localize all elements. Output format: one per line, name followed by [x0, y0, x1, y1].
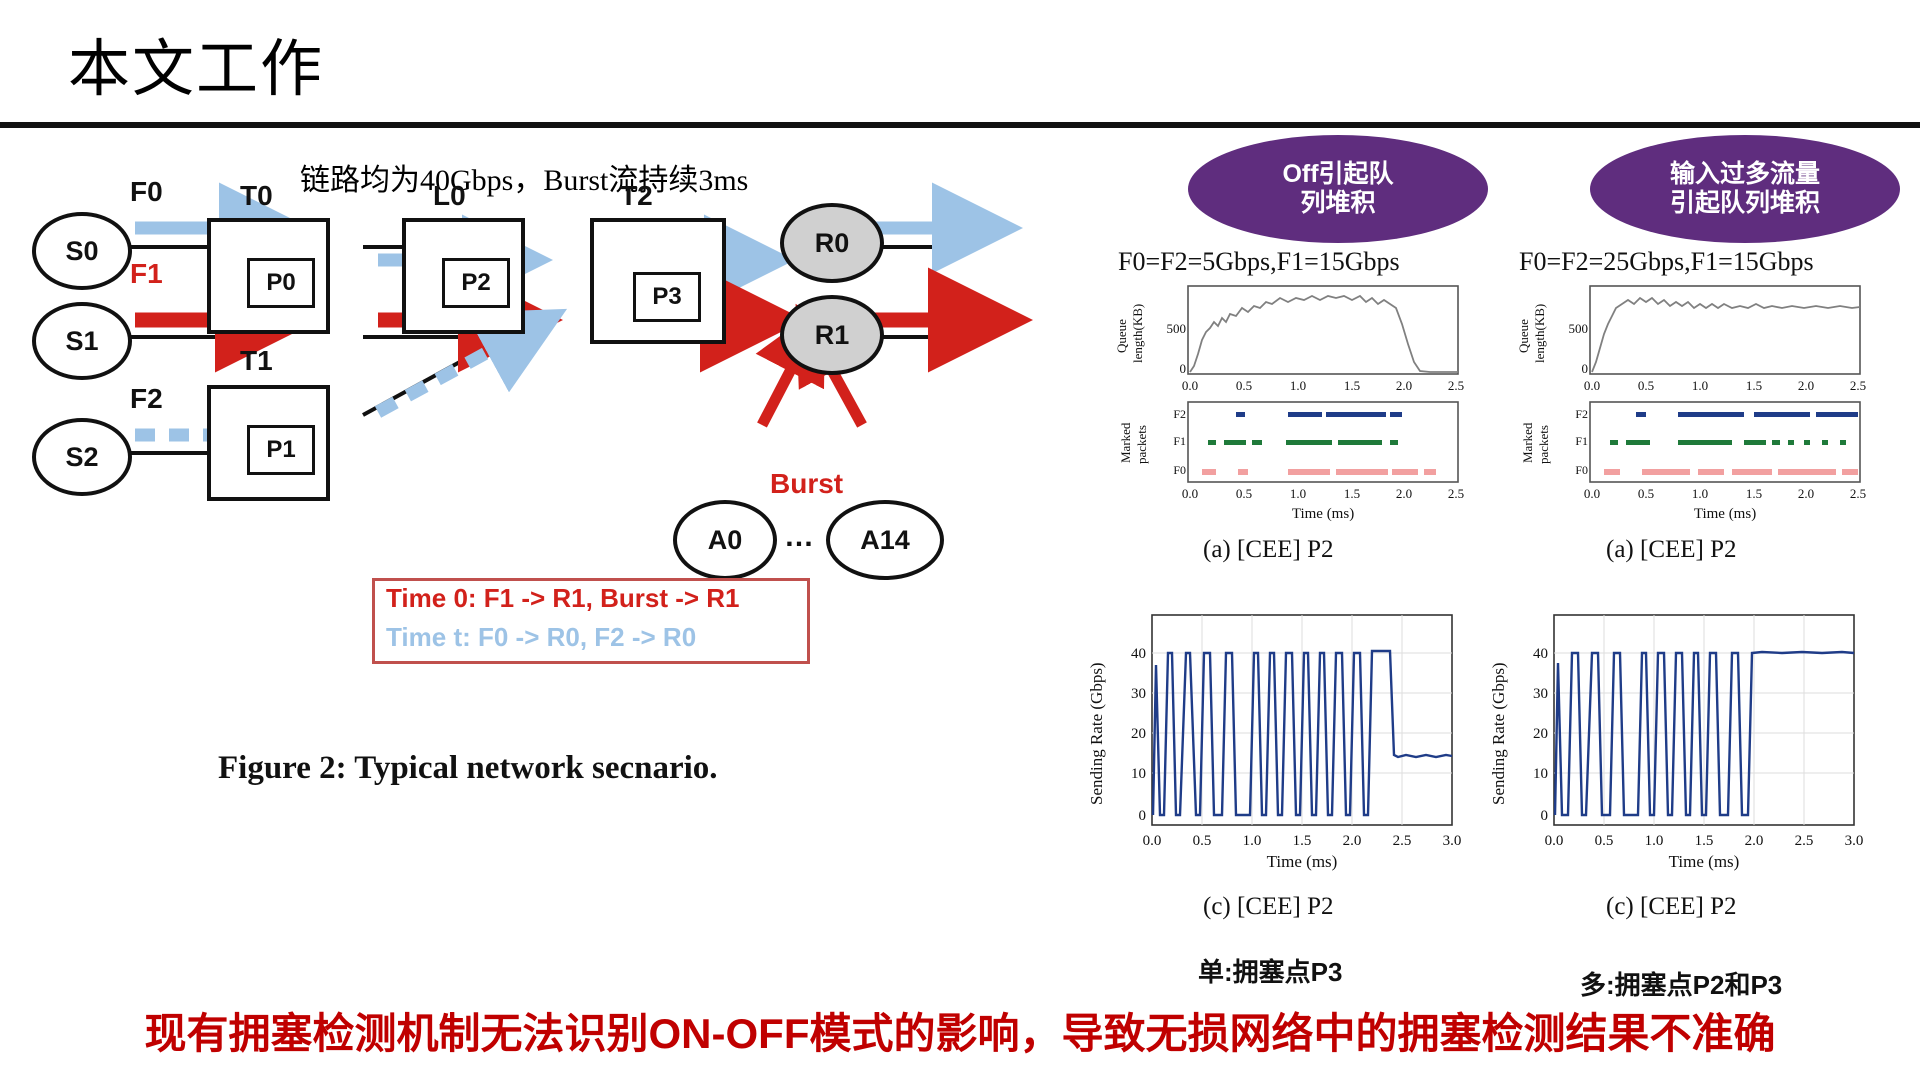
chart-queue-marked-col1: 500 0 0.0 0.5 1.0 1.5 2.0 2.5 Queue leng…: [1090, 278, 1490, 538]
callout-bubble-1: Off引起队 列堆积: [1188, 135, 1488, 243]
svg-text:500: 500: [1167, 321, 1187, 336]
svg-text:0: 0: [1180, 361, 1187, 376]
svg-text:3.0: 3.0: [1443, 833, 1462, 849]
svg-text:0.0: 0.0: [1182, 378, 1198, 393]
switch-l0-label: L0: [433, 180, 466, 212]
svg-text:1.5: 1.5: [1746, 486, 1762, 501]
svg-text:Marked: Marked: [1520, 422, 1535, 463]
callout-bubble-1-line1: Off引起队: [1282, 160, 1393, 190]
svg-text:F1: F1: [1173, 434, 1186, 448]
rate-caption-col2: F0=F2=25Gbps,F1=15Gbps: [1519, 247, 1814, 277]
svg-text:2.5: 2.5: [1795, 833, 1814, 849]
svg-text:0.5: 0.5: [1638, 378, 1654, 393]
scenario-legend-line1: Time 0: F1 -> R1, Burst -> R1: [386, 583, 740, 614]
svg-text:packets: packets: [1536, 425, 1551, 464]
port-p3: P3: [633, 272, 701, 322]
svg-text:0.5: 0.5: [1236, 486, 1252, 501]
svg-text:2.0: 2.0: [1798, 486, 1814, 501]
burst-label: Burst: [770, 468, 843, 500]
svg-text:10: 10: [1533, 766, 1548, 782]
svg-text:Queue: Queue: [1114, 319, 1129, 353]
svg-text:0: 0: [1582, 361, 1589, 376]
svg-text:0.0: 0.0: [1584, 378, 1600, 393]
svg-text:1.0: 1.0: [1243, 833, 1262, 849]
port-p1: P1: [247, 425, 315, 475]
svg-text:Queue: Queue: [1516, 319, 1531, 353]
switch-t2-label: T2: [620, 180, 653, 212]
node-s0: S0: [32, 212, 132, 290]
page-title: 本文工作: [68, 18, 324, 108]
svg-text:Time (ms): Time (ms): [1694, 506, 1756, 522]
burst-ellipsis: …: [784, 520, 816, 554]
bottom-note-col1: 单:拥塞点P3: [1198, 952, 1342, 989]
header-divider: [0, 122, 1920, 128]
svg-text:2.5: 2.5: [1448, 486, 1464, 501]
panel-a-caption-col2: (a) [CEE] P2: [1606, 536, 1737, 564]
callout-bubble-1-line2: 列堆积: [1282, 189, 1393, 219]
panel-c-caption-col1: (c) [CEE] P2: [1203, 893, 1334, 921]
switch-t0-label: T0: [240, 180, 273, 212]
svg-text:2.0: 2.0: [1343, 833, 1362, 849]
svg-text:0.0: 0.0: [1182, 486, 1198, 501]
svg-text:2.0: 2.0: [1396, 378, 1412, 393]
port-p0: P0: [247, 258, 315, 308]
svg-text:0.5: 0.5: [1638, 486, 1654, 501]
svg-text:2.5: 2.5: [1850, 378, 1866, 393]
svg-text:0.5: 0.5: [1193, 833, 1212, 849]
flow-label-f0: F0: [130, 176, 163, 208]
svg-text:500: 500: [1569, 321, 1589, 336]
svg-text:2.0: 2.0: [1745, 833, 1764, 849]
svg-text:2.5: 2.5: [1448, 378, 1464, 393]
flow-label-f2: F2: [130, 383, 163, 415]
svg-text:2.5: 2.5: [1393, 833, 1412, 849]
panel-c-caption-col2: (c) [CEE] P2: [1606, 893, 1737, 921]
svg-text:20: 20: [1533, 726, 1548, 742]
svg-text:length(KB): length(KB): [1130, 304, 1145, 363]
svg-text:2.0: 2.0: [1396, 486, 1412, 501]
chart-sending-rate-col2: 0 10 20 30 40 0.0 0.5 1.0 1.5 2.0 2.5 3.…: [1462, 605, 1892, 895]
panel-a-caption-col1: (a) [CEE] P2: [1203, 536, 1334, 564]
scenario-legend-line2: Time t: F0 -> R0, F2 -> R0: [386, 622, 696, 653]
node-s2: S2: [32, 418, 132, 496]
svg-text:40: 40: [1533, 646, 1548, 662]
svg-text:0.5: 0.5: [1595, 833, 1614, 849]
svg-text:2.0: 2.0: [1798, 378, 1814, 393]
svg-text:packets: packets: [1134, 425, 1149, 464]
rate-caption-col1: F0=F2=5Gbps,F1=15Gbps: [1118, 247, 1400, 277]
svg-text:2.5: 2.5: [1850, 486, 1866, 501]
switch-t1-label: T1: [240, 345, 273, 377]
svg-text:Sending Rate (Gbps): Sending Rate (Gbps): [1087, 662, 1106, 805]
svg-text:1.5: 1.5: [1293, 833, 1312, 849]
svg-text:40: 40: [1131, 646, 1146, 662]
svg-text:1.0: 1.0: [1645, 833, 1664, 849]
svg-text:0.0: 0.0: [1584, 486, 1600, 501]
svg-text:length(KB): length(KB): [1532, 304, 1547, 363]
svg-text:1.0: 1.0: [1692, 378, 1708, 393]
node-r1: R1: [780, 295, 884, 375]
svg-text:Marked: Marked: [1118, 422, 1133, 463]
svg-text:F2: F2: [1173, 407, 1186, 421]
svg-text:1.5: 1.5: [1746, 378, 1762, 393]
svg-text:30: 30: [1131, 686, 1146, 702]
svg-text:1.5: 1.5: [1344, 486, 1360, 501]
chart-queue-marked-col2: 500 0 0.0 0.5 1.0 1.5 2.0 2.5 Queue leng…: [1492, 278, 1892, 538]
svg-text:3.0: 3.0: [1845, 833, 1864, 849]
node-a0: A0: [673, 500, 777, 580]
slide-root: 本文工作 链路均为40Gbps，Burst流持续3ms: [0, 0, 1920, 1080]
flow-label-f1: F1: [130, 258, 163, 290]
figure-caption: Figure 2: Typical network secnario.: [218, 750, 718, 787]
svg-text:0: 0: [1139, 808, 1147, 824]
callout-bubble-2: 输入过多流量 引起队列堆积: [1590, 135, 1900, 243]
svg-text:1.5: 1.5: [1344, 378, 1360, 393]
svg-text:Time (ms): Time (ms): [1267, 852, 1338, 871]
chart-sending-rate-col1: 0 10 20 30 40 0.0 0.5 1.0 1.5 2.0 2.5 3.…: [1060, 605, 1490, 895]
svg-text:10: 10: [1131, 766, 1146, 782]
svg-text:0.0: 0.0: [1545, 833, 1564, 849]
svg-text:30: 30: [1533, 686, 1548, 702]
port-p2: P2: [442, 258, 510, 308]
node-s1: S1: [32, 302, 132, 380]
svg-text:F0: F0: [1575, 463, 1588, 477]
bottom-banner: 现有拥塞检测机制无法识别ON-OFF模式的影响，导致无损网络中的拥塞检测结果不准…: [0, 1000, 1920, 1061]
svg-text:0.5: 0.5: [1236, 378, 1252, 393]
svg-text:Sending Rate (Gbps): Sending Rate (Gbps): [1489, 662, 1508, 805]
svg-text:F0: F0: [1173, 463, 1186, 477]
svg-text:20: 20: [1131, 726, 1146, 742]
svg-text:F1: F1: [1575, 434, 1588, 448]
svg-text:0: 0: [1541, 808, 1549, 824]
callout-bubble-2-line1: 输入过多流量: [1670, 160, 1820, 190]
callout-bubble-2-line2: 引起队列堆积: [1670, 189, 1820, 219]
node-r0: R0: [780, 203, 884, 283]
svg-text:0.0: 0.0: [1143, 833, 1162, 849]
svg-text:Time (ms): Time (ms): [1292, 506, 1354, 522]
svg-text:1.0: 1.0: [1290, 486, 1306, 501]
svg-text:1.0: 1.0: [1692, 486, 1708, 501]
svg-text:F2: F2: [1575, 407, 1588, 421]
svg-text:1.0: 1.0: [1290, 378, 1306, 393]
svg-text:Time (ms): Time (ms): [1669, 852, 1740, 871]
bottom-note-col2: 多:拥塞点P2和P3: [1580, 965, 1782, 1002]
node-a14: A14: [826, 500, 944, 580]
svg-text:1.5: 1.5: [1695, 833, 1714, 849]
